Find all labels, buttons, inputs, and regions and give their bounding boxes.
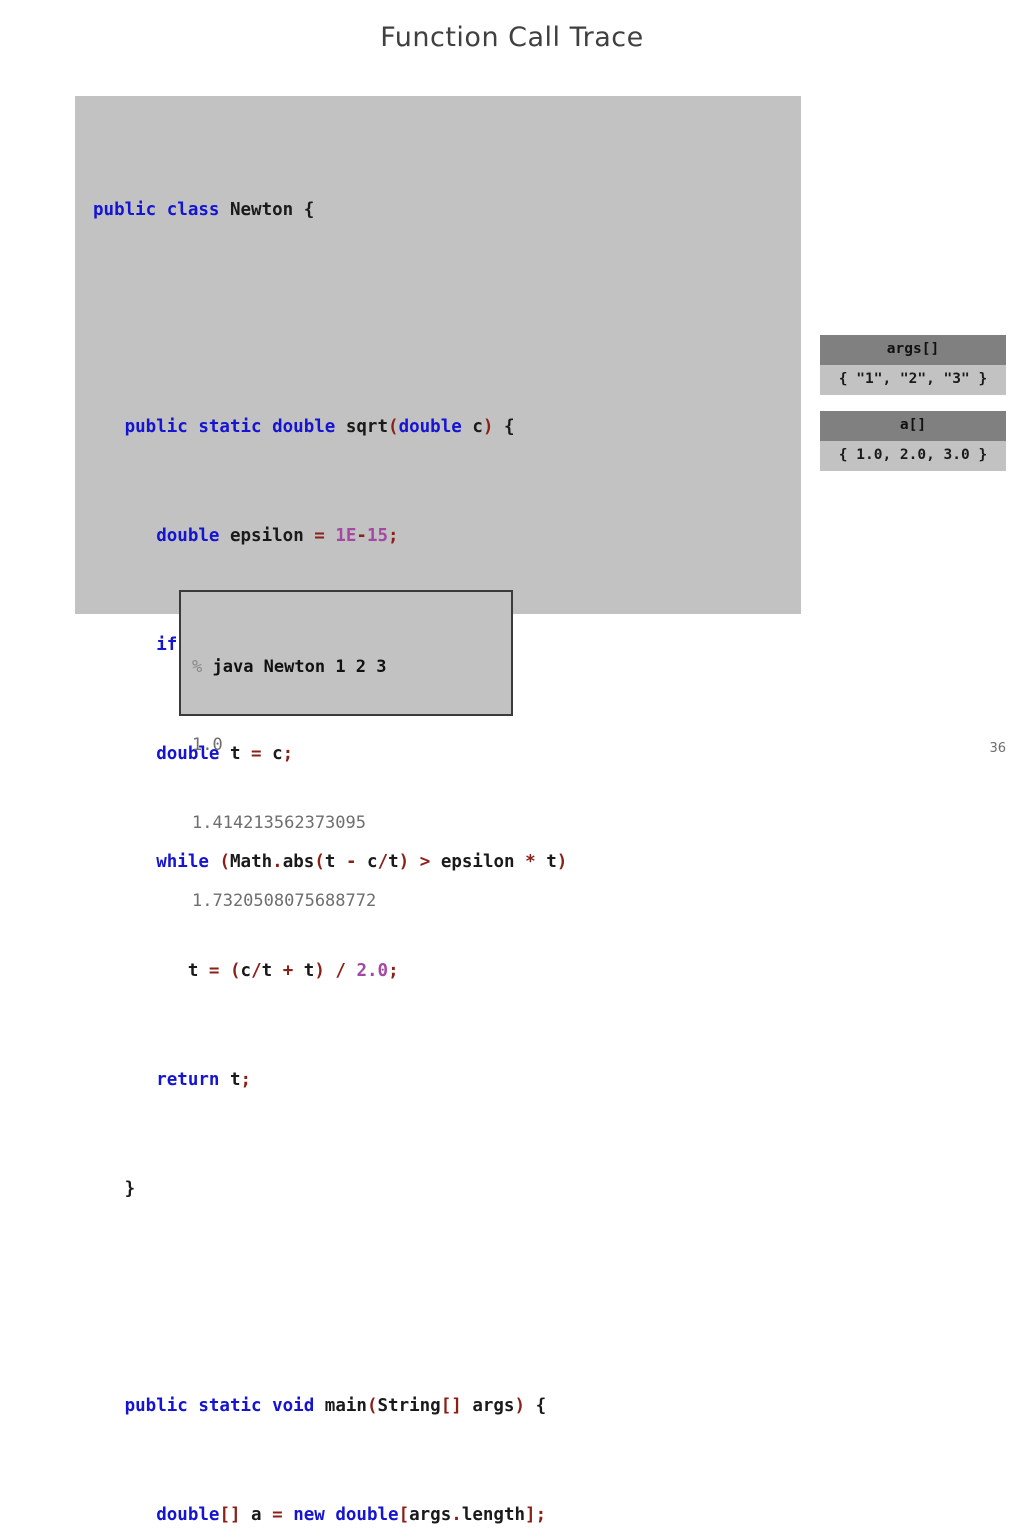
terminal-window: % java Newton 1 2 3 1.0 1.41421356237309… [179, 590, 513, 716]
terminal-content: % java Newton 1 2 3 1.0 1.41421356237309… [181, 592, 511, 966]
terminal-command: java Newton 1 2 3 [202, 657, 386, 677]
code-line: double[] a = new double[args.length]; [93, 1502, 730, 1529]
code-line: } [93, 1176, 730, 1203]
terminal-output-line: 1.414213562373095 [192, 810, 511, 836]
terminal-command-line: % java Newton 1 2 3 [192, 654, 511, 680]
terminal-output-line: 1.0 [192, 732, 511, 758]
page-number: 36 [989, 741, 1006, 756]
variable-table-header: args[] [820, 335, 1006, 365]
variable-table-header: a[] [820, 411, 1006, 441]
variable-table-a: a[] { 1.0, 2.0, 3.0 } [820, 411, 1006, 471]
code-line-blank [93, 305, 730, 332]
terminal-prompt: % [192, 657, 202, 677]
code-panel: public class Newton { public static doub… [75, 96, 801, 614]
code-line: public class Newton { [93, 197, 730, 224]
code-line: public static double sqrt(double c) { [93, 414, 730, 441]
variable-table-args: args[] { "1", "2", "3" } [820, 335, 1006, 395]
code-line: public static void main(String[] args) { [93, 1393, 730, 1420]
code-line: return t; [93, 1067, 730, 1094]
page-title: Function Call Trace [0, 22, 1024, 53]
terminal-output-line: 1.7320508075688772 [192, 888, 511, 914]
code-line: double epsilon = 1E-15; [93, 523, 730, 550]
variable-table-value: { 1.0, 2.0, 3.0 } [820, 441, 1006, 471]
variable-table-value: { "1", "2", "3" } [820, 365, 1006, 395]
code-line-blank [93, 1285, 730, 1312]
